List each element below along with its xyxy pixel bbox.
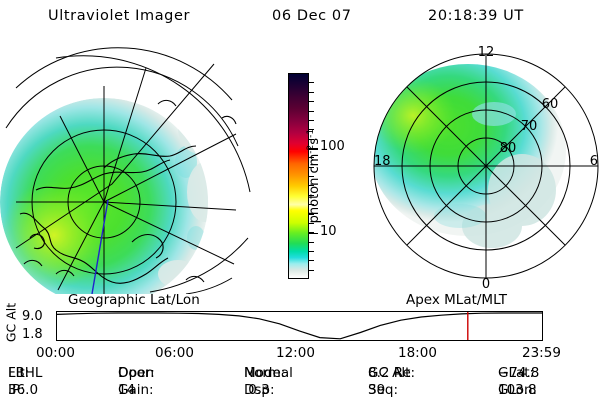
mlt-label-18: 18 [374, 154, 391, 169]
geographic-plot-svg [0, 42, 268, 294]
dsp-field: Dsp: 0.3 [244, 382, 248, 398]
altitude-axis-label: GC Alt [4, 300, 19, 346]
mlt-label-6: 6 [590, 154, 598, 169]
mlt-label-0: 0 [482, 277, 490, 292]
observation-date: 06 Dec 07 [272, 8, 352, 24]
header-bar: Ultraviolet Imager 06 Dec 07 20:18:39 UT [0, 8, 600, 30]
altitude-plot-box [56, 311, 543, 341]
colorbar-label-1: 10 [320, 224, 337, 239]
time-tick-4: 23:59 [522, 345, 561, 361]
altitude-tick-low: 1.8 [22, 327, 43, 342]
colorbar-unit-main: photon cm [307, 154, 322, 224]
apex-aurora-region [372, 64, 566, 248]
geographic-plot[interactable] [0, 42, 268, 294]
mlt-label-12: 12 [478, 45, 495, 60]
apex-caption: Apex MLat/MLT [406, 292, 507, 308]
time-axis: 00:0006:0012:0018:0023:59 [0, 345, 600, 363]
time-tick-0: 00:00 [36, 345, 75, 361]
apex-grid [374, 54, 598, 278]
altitude-curve-svg [57, 312, 542, 340]
colorbar-unit-exp1: -2 [306, 145, 316, 154]
observation-time: 20:18:39 UT [428, 8, 524, 24]
colorbar-axis-title: photon cm-2s-1 [306, 86, 322, 266]
colorbar-unit-exp2: -1 [306, 129, 316, 138]
mlat-label-60: 60 [542, 97, 559, 112]
time-tick-2: 12:00 [276, 345, 315, 361]
mlat-label-70: 70 [521, 119, 538, 134]
altitude-tick-high: 9.0 [22, 309, 43, 324]
altitude-timeseries-panel[interactable]: GC Alt 9.0 1.8 [0, 307, 600, 345]
time-tick-3: 18:00 [398, 345, 437, 361]
time-tick-1: 06:00 [155, 345, 194, 361]
mlat-label-80: 80 [500, 141, 517, 156]
geographic-caption: Geographic Lat/Lon [68, 292, 200, 308]
instrument-title: Ultraviolet Imager [48, 8, 190, 24]
colorbar: photon cm-2s-1 10010 [262, 60, 372, 300]
apex-polar-plot[interactable]: 12 18 6 0 60 70 80 [372, 42, 600, 294]
colorbar-label-0: 100 [320, 139, 345, 154]
apex-polar-svg: 12 18 6 0 60 70 80 [372, 42, 600, 294]
status-footer: Flt: LBHL IP: 36.0 Door: Open Gain: 14 M… [0, 365, 600, 399]
altitude-curve [57, 313, 542, 339]
